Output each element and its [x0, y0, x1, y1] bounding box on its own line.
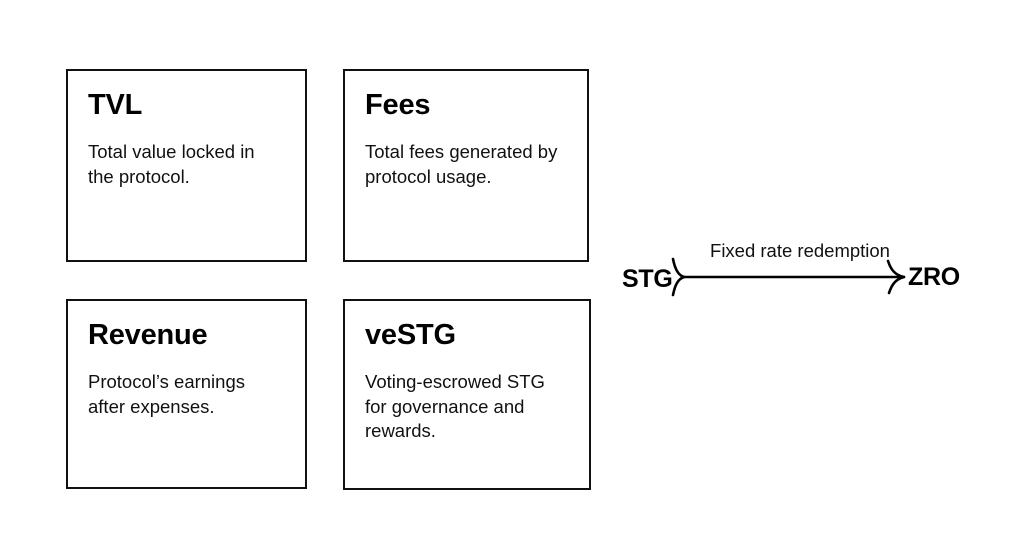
redemption-flow-diagram: STG Fixed rate redemption ZRO — [612, 232, 992, 317]
card-title: veSTG — [365, 321, 569, 350]
card-description: Total fees generated by protocol usage. — [365, 140, 567, 189]
card-description: Voting-escrowed STG for governance and r… — [365, 370, 569, 444]
diagram-canvas: TVL Total value locked in the protocol. … — [0, 0, 1024, 559]
card-title: Fees — [365, 91, 567, 120]
concept-card-fees: Fees Total fees generated by protocol us… — [343, 69, 589, 262]
card-description: Protocol’s earnings after expenses. — [88, 370, 285, 419]
concept-card-vestg: veSTG Voting-escrowed STG for governance… — [343, 299, 591, 490]
concept-card-tvl: TVL Total value locked in the protocol. — [66, 69, 307, 262]
card-description: Total value locked in the protocol. — [88, 140, 285, 189]
card-title: TVL — [88, 91, 285, 120]
target-token-label: ZRO — [908, 263, 960, 292]
card-title: Revenue — [88, 321, 285, 350]
concept-card-revenue: Revenue Protocol’s earnings after expens… — [66, 299, 307, 489]
